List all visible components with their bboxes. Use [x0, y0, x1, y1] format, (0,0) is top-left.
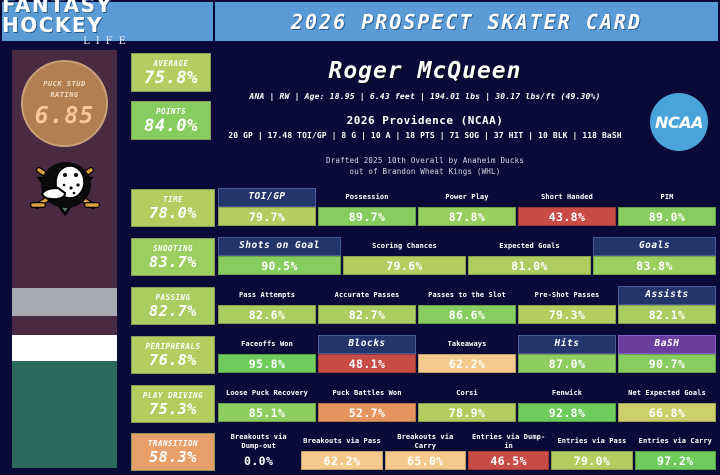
row-label-transition: TRANSITION58.3% [131, 433, 215, 471]
row-label-peripherals: PERIPHERALS76.8% [131, 336, 215, 374]
player-info: Roger McQueen ANA | RW | Age: 18.95 | 6.… [215, 50, 635, 178]
stat-cell-header: Possession [318, 188, 416, 207]
row-label-value: 82.7% [149, 303, 197, 320]
stat-cell[interactable]: Corsi78.9% [418, 384, 516, 422]
stat-cell-header: Puck Battles Won [318, 384, 416, 403]
stat-cell-value: 89.0% [618, 207, 716, 226]
ncaa-logo-icon: NCAA [650, 93, 708, 151]
stat-cell-value: 79.6% [343, 256, 466, 275]
row-label-value: 78.0% [149, 205, 197, 222]
row-label-text: TRANSITION [148, 439, 198, 449]
stat-cell[interactable]: Blocks48.1% [318, 335, 416, 373]
row-label-value: 75.3% [149, 401, 197, 418]
stat-cell-header: Pre-Shot Passes [518, 286, 616, 305]
stat-cell[interactable]: TOI/GP79.7% [218, 188, 316, 226]
stat-cell-header: Short Handed [518, 188, 616, 207]
stat-cell[interactable]: BaSH90.7% [618, 335, 716, 373]
stat-cell[interactable]: Puck Battles Won52.7% [318, 384, 416, 422]
stat-cell-value: 65.0% [385, 451, 466, 470]
summary-chip-average: AVERAGE 75.8% [131, 53, 211, 92]
stat-cell[interactable]: Fenwick92.8% [518, 384, 616, 422]
player-name: Roger McQueen [215, 58, 635, 84]
row-label-time: TIME78.0% [131, 189, 215, 227]
anaheim-ducks-logo-icon [25, 158, 105, 220]
row-label-text: PASSING [155, 293, 190, 303]
row-label-text: TIME [163, 195, 183, 205]
stat-cell-header: Takeaways [418, 335, 516, 354]
stat-cell[interactable]: Scoring Chances79.6% [343, 237, 466, 275]
stat-cell-value: 62.2% [301, 451, 382, 470]
row-label-shooting: SHOOTING83.7% [131, 238, 215, 276]
header-bar: FANTASY HOCKEY LIFE 2026 PROSPECT SKATER… [0, 0, 720, 43]
stat-cell-value: 0.0% [218, 451, 299, 470]
stat-cell[interactable]: Passes to the Slot86.6% [418, 286, 516, 324]
stat-cell[interactable]: Loose Puck Recovery85.1% [218, 384, 316, 422]
stat-cell-header: Power Play [418, 188, 516, 207]
stat-cell[interactable]: Expected Goals81.0% [468, 237, 591, 275]
stat-cell-value: 97.2% [635, 451, 716, 470]
stat-cell[interactable]: Breakouts via Dump-out0.0% [218, 432, 299, 470]
stat-cell-header: TOI/GP [218, 188, 316, 207]
stat-cell-value: 87.0% [518, 354, 616, 373]
rating-value: 6.85 [35, 103, 94, 129]
stat-cell-value: 92.8% [518, 403, 616, 422]
row-label-passing: PASSING82.7% [131, 287, 215, 325]
row-label-value: 58.3% [149, 449, 197, 466]
team-stripe-white [12, 335, 117, 361]
stat-cell-header: Blocks [318, 335, 416, 354]
stat-cell-header: Entries via Carry [635, 432, 716, 451]
stat-cell-header: Fenwick [518, 384, 616, 403]
player-draft-line1: Drafted 2025 10th Overall by Anaheim Duc… [215, 155, 635, 166]
stat-cell-value: 85.1% [218, 403, 316, 422]
stat-cell[interactable]: Assists82.1% [618, 286, 716, 324]
stat-cell[interactable]: Accurate Passes82.7% [318, 286, 416, 324]
stat-cell-header: PIM [618, 188, 716, 207]
stat-cell-header: Breakouts via Pass [301, 432, 382, 451]
stat-cell-value: 81.0% [468, 256, 591, 275]
rating-label-line2: RATING [50, 90, 78, 101]
brand-logo-sub: LIFE [83, 35, 132, 48]
stat-cell[interactable]: Pass Attempts82.6% [218, 286, 316, 324]
stat-cell-header: Scoring Chances [343, 237, 466, 256]
summary-chip-label: AVERAGE [153, 58, 188, 69]
team-stripe-grey [12, 288, 117, 316]
stat-cell[interactable]: Faceoffs Won95.8% [218, 335, 316, 373]
stat-cell-header: Corsi [418, 384, 516, 403]
stat-cell-value: 86.6% [418, 305, 516, 324]
stat-cell-header: Accurate Passes [318, 286, 416, 305]
stat-cell-value: 87.8% [418, 207, 516, 226]
row-label-text: SHOOTING [153, 244, 193, 254]
stat-cell-value: 46.5% [468, 451, 549, 470]
player-bio-line: ANA | RW | Age: 18.95 | 6.43 feet | 194.… [215, 91, 635, 102]
stat-cell-header: Breakouts via Dump-out [218, 432, 299, 451]
card-title-container: 2026 PROSPECT SKATER CARD [215, 0, 720, 43]
puck-stud-rating-badge: PUCK STUD RATING 6.85 [21, 60, 108, 147]
stat-cell-header: Assists [618, 286, 716, 305]
stat-cell-header: Shots on Goal [218, 237, 341, 256]
summary-chip-value: 75.8% [144, 69, 198, 88]
stat-cell-header: Expected Goals [468, 237, 591, 256]
stat-cell-value: 89.7% [318, 207, 416, 226]
stat-cell[interactable]: Power Play87.8% [418, 188, 516, 226]
stat-row: Shots on Goal90.5%Scoring Chances79.6%Ex… [218, 237, 716, 275]
stat-cell-value: 62.2% [418, 354, 516, 373]
stat-cell-value: 43.8% [518, 207, 616, 226]
stat-cell[interactable]: Net Expected Goals66.8% [618, 384, 716, 422]
stat-cell[interactable]: Possession89.7% [318, 188, 416, 226]
brand-logo[interactable]: FANTASY HOCKEY LIFE [0, 0, 215, 43]
stat-cell[interactable]: Pre-Shot Passes79.3% [518, 286, 616, 324]
stat-cell[interactable]: Takeaways62.2% [418, 335, 516, 373]
stat-row: TOI/GP79.7%Possession89.7%Power Play87.8… [218, 188, 716, 226]
player-season-team: 2026 Providence (NCAA) [215, 114, 635, 128]
stat-cell-value: 79.0% [551, 451, 632, 470]
stat-cell[interactable]: Goals83.8% [593, 237, 716, 275]
stat-cell[interactable]: Breakouts via Carry65.0% [385, 432, 466, 470]
stat-cell[interactable]: PIM89.0% [618, 188, 716, 226]
row-label-play-driving: PLAY DRIVING75.3% [131, 385, 215, 423]
player-season-stats: 20 GP | 17.48 TOI/GP | 8 G | 10 A | 18 P… [215, 130, 635, 141]
stat-cell-header: Breakouts via Carry [385, 432, 466, 451]
team-color-panel: PUCK STUD RATING 6.85 [12, 50, 117, 468]
row-label-text: PLAY DRIVING [143, 391, 203, 401]
stat-row: Loose Puck Recovery85.1%Puck Battles Won… [218, 384, 716, 422]
team-stripe-teal [12, 361, 117, 468]
summary-chip-value: 84.0% [144, 117, 198, 136]
row-label-value: 83.7% [149, 254, 197, 271]
stat-cell-header: Pass Attempts [218, 286, 316, 305]
stat-cell-header: BaSH [618, 335, 716, 354]
stat-cell[interactable]: Entries via Pass79.0% [551, 432, 632, 470]
stat-cell-value: 83.8% [593, 256, 716, 275]
stat-cell[interactable]: Shots on Goal90.5% [218, 237, 341, 275]
stat-cell-value: 95.8% [218, 354, 316, 373]
stat-cell-value: 52.7% [318, 403, 416, 422]
rating-label-line1: PUCK STUD [43, 79, 85, 90]
stat-cell-header: Goals [593, 237, 716, 256]
stat-cell-value: 79.3% [518, 305, 616, 324]
stat-cell-header: Net Expected Goals [618, 384, 716, 403]
stat-cell-value: 48.1% [318, 354, 416, 373]
ncaa-logo-text: NCAA [655, 113, 703, 132]
stat-cell-value: 82.1% [618, 305, 716, 324]
stat-cell-value: 78.9% [418, 403, 516, 422]
stat-cell-header: Passes to the Slot [418, 286, 516, 305]
stat-row: Faceoffs Won95.8%Blocks48.1%Takeaways62.… [218, 335, 716, 373]
stat-cell-header: Hits [518, 335, 616, 354]
stat-cell-header: Entries via Dump-in [468, 432, 549, 451]
player-draft-line2: out of Brandon Wheat Kings (WHL) [215, 166, 635, 177]
summary-chip-points: POINTS 84.0% [131, 101, 211, 140]
stat-cell[interactable]: Entries via Dump-in46.5% [468, 432, 549, 470]
stat-cell[interactable]: Entries via Carry97.2% [635, 432, 716, 470]
stat-cell-header: Entries via Pass [551, 432, 632, 451]
stat-cell-value: 79.7% [218, 207, 316, 226]
row-label-value: 76.8% [149, 352, 197, 369]
stat-cell-value: 82.7% [318, 305, 416, 324]
stat-row: Pass Attempts82.6%Accurate Passes82.7%Pa… [218, 286, 716, 324]
stat-cell-value: 82.6% [218, 305, 316, 324]
stat-cell-value: 90.7% [618, 354, 716, 373]
stat-row: Breakouts via Dump-out0.0%Breakouts via … [218, 432, 716, 470]
stat-cell-value: 66.8% [618, 403, 716, 422]
stat-cell-header: Loose Puck Recovery [218, 384, 316, 403]
row-label-text: PERIPHERALS [145, 342, 200, 352]
prospect-skater-card: FANTASY HOCKEY LIFE 2026 PROSPECT SKATER… [0, 0, 720, 475]
summary-chip-label: POINTS [156, 106, 186, 117]
stat-cell-value: 90.5% [218, 256, 341, 275]
page-title: 2026 PROSPECT SKATER CARD [291, 10, 642, 34]
stat-cell[interactable]: Short Handed43.8% [518, 188, 616, 226]
stat-cell[interactable]: Breakouts via Pass62.2% [301, 432, 382, 470]
stat-cell-header: Faceoffs Won [218, 335, 316, 354]
stat-cell[interactable]: Hits87.0% [518, 335, 616, 373]
brand-logo-main: FANTASY HOCKEY [2, 0, 213, 35]
